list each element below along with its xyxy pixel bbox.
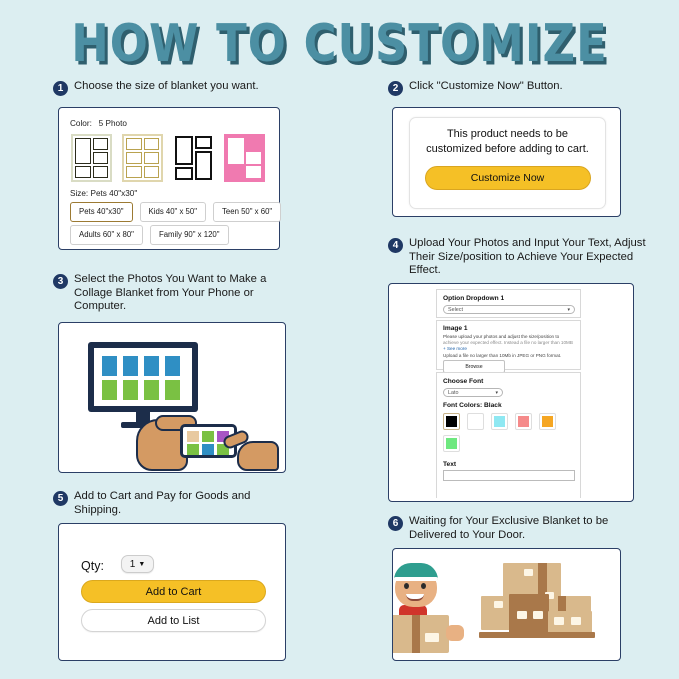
step-badge-1: 1 — [53, 81, 68, 96]
size-option-kids[interactable]: Kids 40" x 50" — [140, 202, 206, 222]
collage-cell — [93, 152, 109, 164]
add-to-list-button[interactable]: Add to List — [81, 609, 266, 632]
box-label — [554, 617, 564, 625]
infographic-page: HOW TO CUSTOMIZE 1 Choose the size of bl… — [0, 0, 679, 679]
step-2-heading: 2 Click "Customize Now" Button. — [388, 80, 648, 96]
photo-tile — [123, 380, 138, 400]
step-label-5: Add to Cart and Pay for Goods and Shippi… — [74, 490, 293, 517]
collage-cell — [126, 152, 142, 164]
color-value: 5 Photo — [99, 119, 127, 128]
collage-cell — [246, 166, 262, 178]
size-option-adults[interactable]: Adults 60" x 80" — [70, 225, 143, 245]
image-help-line-1: Please upload your photos and adjust the… — [443, 334, 559, 340]
option-dropdown-value: Select — [448, 307, 463, 313]
upload-note: Upload a file no larger than 10Mb in JPE… — [443, 353, 561, 359]
option-dropdown-card: Option Dropdown 1 Select ▾ — [436, 289, 581, 318]
color-label-text: Color: — [70, 119, 92, 128]
step-badge-5: 5 — [53, 491, 68, 506]
collage-thumbnails — [71, 134, 265, 182]
qty-stepper[interactable]: 1 ▼ — [121, 555, 154, 573]
carried-package-box — [392, 615, 449, 653]
box-label — [533, 611, 543, 619]
phone-photo-tile — [187, 444, 199, 455]
package-box-dark — [509, 594, 549, 634]
text-input[interactable] — [443, 470, 575, 481]
chevron-down-icon: ▾ — [567, 307, 570, 313]
font-colors-label: Font Colors: Black — [443, 402, 502, 409]
text-field-label: Text — [443, 461, 456, 468]
color-swatch-orange[interactable] — [539, 413, 556, 430]
step-3-panel — [58, 322, 286, 473]
customize-prompt-card: This product needs to be customized befo… — [409, 117, 606, 209]
delivery-man-hand — [446, 625, 464, 641]
qty-label: Qty: — [81, 559, 104, 573]
phone-photo-tile — [202, 444, 214, 455]
chevron-down-icon: ▼ — [138, 561, 145, 568]
photo-tile — [144, 356, 159, 376]
chevron-down-icon: ▾ — [495, 390, 498, 396]
collage-cell — [126, 166, 142, 178]
cap-brim — [394, 577, 438, 581]
computer-and-phone-illustration — [59, 323, 287, 474]
customize-message: This product needs to be customized befo… — [410, 118, 605, 157]
color-label: Color: 5 Photo — [70, 119, 127, 128]
size-option-family[interactable]: Family 90" x 120" — [150, 225, 229, 245]
step-6-heading: 6 Waiting for Your Exclusive Blanket to … — [388, 515, 643, 542]
size-options-row-2: Adults 60" x 80" Family 90" x 120" — [70, 225, 229, 245]
choose-font-label: Choose Font — [443, 378, 483, 385]
step-6-panel — [392, 548, 621, 661]
step-3-heading: 3 Select the Photos You Want to Make a C… — [53, 273, 298, 314]
step-label-6: Waiting for Your Exclusive Blanket to be… — [409, 515, 643, 542]
collage-thumb-pink[interactable] — [224, 134, 265, 182]
add-to-cart-button[interactable]: Add to Cart — [81, 580, 266, 603]
font-value: Lato — [448, 390, 459, 396]
collage-cell — [175, 136, 193, 165]
photo-tile — [102, 356, 117, 376]
step-2-panel: This product needs to be customized befo… — [392, 107, 621, 217]
phone-photo-tile — [187, 431, 199, 442]
collage-thumb-black[interactable] — [173, 134, 214, 182]
box-shadow-base — [479, 632, 595, 638]
step-label-4: Upload Your Photos and Input Your Text, … — [409, 237, 653, 278]
color-swatch-green[interactable] — [443, 435, 460, 452]
box-label — [524, 569, 533, 576]
step-5-panel: Qty: 1 ▼ Add to Cart Add to List — [58, 523, 286, 661]
image-label: Image 1 — [443, 325, 468, 332]
step-label-2: Click "Customize Now" Button. — [409, 80, 563, 94]
photo-tile — [165, 380, 180, 400]
collage-cell — [144, 138, 160, 150]
box-tape — [412, 615, 420, 653]
photo-tile — [165, 356, 180, 376]
step-4-panel: Option Dropdown 1 Select ▾ Image 1 Pleas… — [388, 283, 634, 502]
collage-thumb-olive[interactable] — [71, 134, 112, 182]
photo-tile — [144, 380, 159, 400]
step-1-panel: Color: 5 Photo — [58, 107, 280, 250]
option-dropdown-label: Option Dropdown 1 — [443, 295, 504, 302]
box-label — [517, 611, 527, 619]
step-badge-3: 3 — [53, 274, 68, 289]
phone-photo-tile — [202, 431, 214, 442]
box-label — [425, 633, 439, 642]
color-swatch-white[interactable] — [467, 413, 484, 430]
size-options-row-1: Pets 40"x30" Kids 40" x 50" Teen 50" x 6… — [70, 202, 281, 222]
photo-tile — [102, 380, 117, 400]
collage-cell — [93, 138, 109, 150]
collage-cell — [75, 166, 91, 178]
step-badge-2: 2 — [388, 81, 403, 96]
collage-cell — [246, 152, 262, 164]
collage-cell — [195, 151, 213, 180]
color-swatch-salmon[interactable] — [515, 413, 532, 430]
step-badge-4: 4 — [388, 238, 403, 253]
step-label-3: Select the Photos You Want to Make a Col… — [74, 273, 298, 314]
image-help-line-2: achieve your expected effect. Instead a … — [443, 340, 573, 346]
size-label: Size: Pets 40"x30" — [70, 189, 137, 198]
delivery-illustration — [393, 549, 621, 661]
collage-cell — [126, 138, 142, 150]
collage-cell — [144, 166, 160, 178]
collage-cell — [93, 166, 109, 178]
size-option-pets[interactable]: Pets 40"x30" — [70, 202, 133, 222]
step-5-heading: 5 Add to Cart and Pay for Goods and Ship… — [53, 490, 293, 517]
collage-cell — [75, 138, 91, 164]
see-more-link[interactable]: + See more — [443, 346, 467, 352]
step-label-1: Choose the size of blanket you want. — [74, 80, 259, 94]
collage-cell — [175, 167, 193, 180]
size-option-teen[interactable]: Teen 50" x 60" — [213, 202, 281, 222]
step-4-heading: 4 Upload Your Photos and Input Your Text… — [388, 237, 653, 278]
customize-now-button[interactable]: Customize Now — [425, 166, 591, 190]
step-1-heading: 1 Choose the size of blanket you want. — [53, 80, 353, 96]
collage-cell — [228, 138, 244, 164]
color-swatch-light-blue[interactable] — [491, 413, 508, 430]
collage-cell — [195, 136, 213, 149]
eye-left — [404, 583, 409, 589]
right-hand — [237, 441, 279, 471]
collage-thumb-gold[interactable] — [122, 134, 163, 182]
font-select[interactable]: Lato ▾ — [443, 388, 503, 397]
box-label — [571, 617, 581, 625]
photo-tile — [123, 356, 138, 376]
step-badge-6: 6 — [388, 516, 403, 531]
box-label — [494, 601, 503, 608]
eye-right — [421, 583, 426, 589]
qty-value: 1 — [130, 559, 136, 570]
option-dropdown-select[interactable]: Select ▾ — [443, 305, 575, 314]
color-swatch-black[interactable] — [443, 413, 460, 430]
image-upload-card: Image 1 Please upload your photos and ad… — [436, 320, 581, 370]
page-title: HOW TO CUSTOMIZE — [0, 14, 679, 74]
font-and-color-card: Choose Font Lato ▾ Font Colors: Black Te… — [436, 372, 581, 498]
collage-cell — [144, 152, 160, 164]
